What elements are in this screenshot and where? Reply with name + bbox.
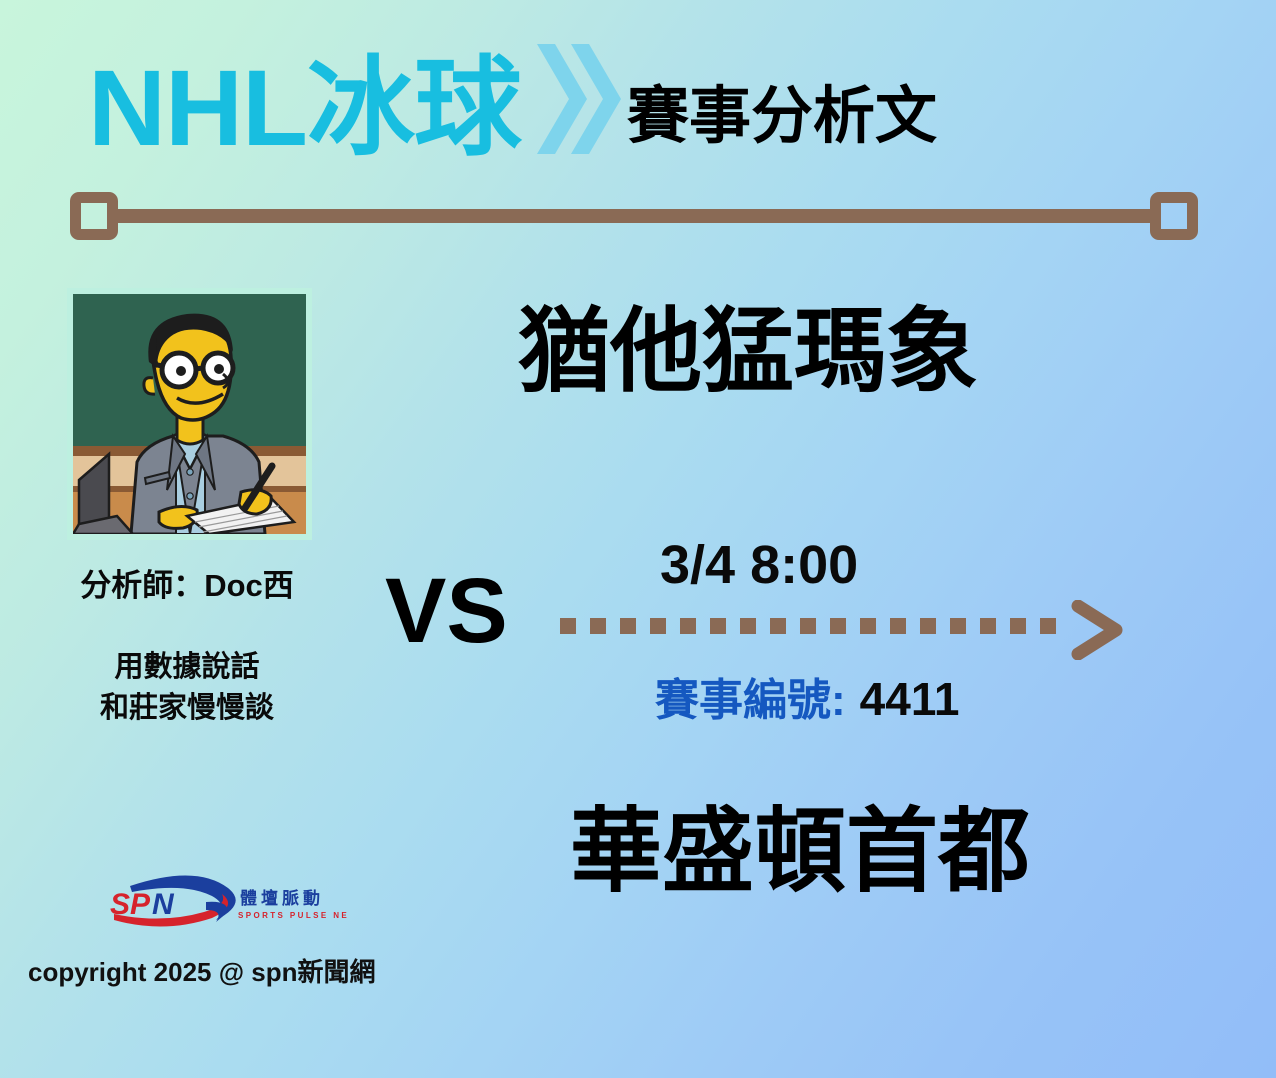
svg-text:N: N — [152, 888, 175, 921]
analyst-name: 分析師：Doc西 — [32, 560, 342, 605]
svg-text:S: S — [110, 888, 130, 921]
analyst-slogan-line2: 和莊家慢慢談 — [32, 688, 342, 729]
page-title: NHL冰球 — [88, 54, 521, 162]
avatar — [67, 288, 312, 540]
spn-logo: S P N 體壇脈動 SPORTS PULSE NEWS — [88, 872, 348, 930]
match-id-value: 4411 — [860, 676, 960, 722]
arrow-head-icon — [1070, 600, 1126, 660]
vs-label: VS — [385, 565, 508, 657]
brand-block: S P N 體壇脈動 SPORTS PULSE NEWS copyright 2… — [28, 872, 408, 989]
match-id-label: 賽事編號: — [655, 679, 846, 723]
svg-text:P: P — [130, 888, 151, 921]
header-banner: NHL冰球 賽事分析文 — [0, 0, 1276, 190]
divider-right-cap-square-outline-icon — [1150, 192, 1198, 240]
analyst-block: 分析師：Doc西 用數據說話 和莊家慢慢談 — [32, 288, 342, 729]
analyst-slogan-line1: 用數據說話 — [32, 647, 342, 688]
divider-line — [110, 209, 1158, 223]
decorative-divider — [70, 192, 1198, 248]
match-datetime: 3/4 8:00 — [660, 538, 858, 592]
dotted-arrow-right-icon — [560, 600, 1120, 662]
copyright-text: copyright 2025 @ spn新聞網 — [28, 952, 408, 989]
page-subtitle: 賽事分析文 — [627, 86, 937, 148]
analyst-slogan: 用數據說話 和莊家慢慢談 — [32, 647, 342, 729]
team-home-name: 猶他猛瑪象 — [518, 306, 978, 398]
svg-text:SPORTS PULSE NEWS: SPORTS PULSE NEWS — [238, 911, 348, 920]
title-row: NHL冰球 賽事分析文 — [88, 38, 937, 162]
double-chevron-right-icon — [527, 38, 623, 160]
analyst-avatar-illustration — [73, 294, 306, 534]
team-away-name: 華盛頓首都 — [570, 806, 1030, 898]
dotted-line — [560, 618, 1068, 634]
match-id-row: 賽事編號: 4411 — [655, 676, 959, 723]
svg-text:體壇脈動: 體壇脈動 — [240, 888, 324, 908]
